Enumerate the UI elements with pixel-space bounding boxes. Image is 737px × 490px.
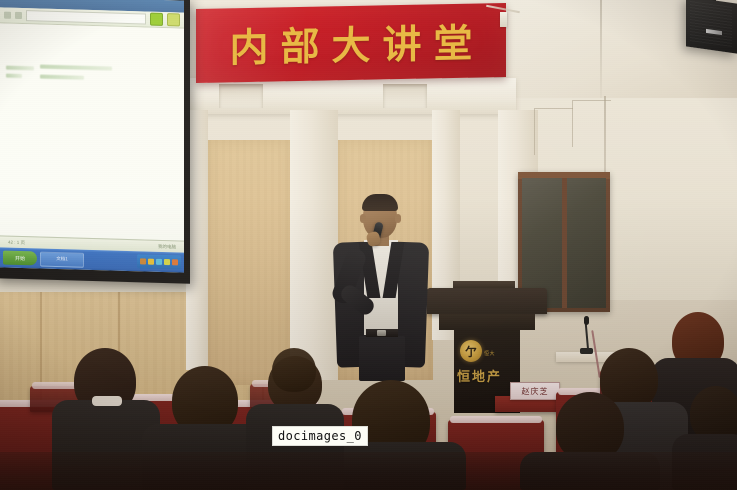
- door-mullion: [562, 178, 567, 308]
- ceiling-seam: [600, 0, 602, 98]
- go-icon[interactable]: [150, 13, 163, 26]
- ear: [360, 214, 366, 223]
- speaker-grill: [690, 1, 732, 47]
- seat-headrest: [450, 416, 542, 423]
- antivirus-icon[interactable]: [172, 259, 178, 265]
- wall-niche: [219, 84, 263, 108]
- toolbar-icon[interactable]: [4, 12, 11, 19]
- address-field[interactable]: [26, 10, 146, 24]
- shield-icon[interactable]: [148, 259, 154, 265]
- foreground-shadow: [0, 452, 737, 490]
- company-logo-subtext: 恒大: [484, 350, 495, 357]
- projection-screen: 42 : 1 页 我的电脑 开始 文档1: [0, 0, 190, 284]
- wood-panel-center-left: [208, 140, 292, 385]
- banner-clip: [500, 12, 507, 27]
- toolbar-icon[interactable]: [15, 12, 22, 19]
- language-icon[interactable]: [164, 259, 170, 265]
- event-banner: 内部大讲堂: [196, 3, 506, 83]
- search-icon[interactable]: [167, 13, 180, 26]
- trousers: [359, 336, 405, 381]
- podium-mid: [439, 314, 535, 330]
- windows-taskbar[interactable]: 开始 文档1: [0, 247, 184, 272]
- name-plate: 赵庆芝: [510, 382, 560, 400]
- wall-inset-panel: [572, 100, 611, 147]
- company-logo-icon: 亇: [460, 340, 482, 362]
- microphone-base: [580, 348, 593, 354]
- podium-top: [427, 288, 547, 314]
- photograph-scene: 内部大讲堂 42 : 1 页 我的电脑: [0, 0, 737, 490]
- banner-text: 内部大讲堂: [196, 3, 506, 83]
- document-body: [0, 23, 184, 240]
- system-tray[interactable]: [137, 254, 181, 269]
- network-icon[interactable]: [156, 259, 162, 265]
- projected-desktop: 42 : 1 页 我的电脑 开始 文档1: [0, 0, 184, 273]
- wall-niche: [383, 84, 427, 108]
- statusbar-left: 42 : 1 页: [8, 239, 25, 245]
- belt-buckle: [377, 330, 386, 336]
- ear: [395, 214, 401, 223]
- taskbar-window-button[interactable]: 文档1: [40, 251, 84, 267]
- hair: [362, 194, 398, 211]
- wall-inset-panel: [534, 108, 573, 155]
- volume-icon[interactable]: [140, 258, 146, 264]
- statusbar-right: 我的电脑: [158, 243, 176, 250]
- watermark-label: docimages_0: [272, 426, 368, 446]
- microphone-icon: [584, 316, 589, 325]
- wall-pilaster: [290, 110, 338, 380]
- presenter-person: [333, 196, 429, 381]
- start-button[interactable]: 开始: [3, 251, 37, 266]
